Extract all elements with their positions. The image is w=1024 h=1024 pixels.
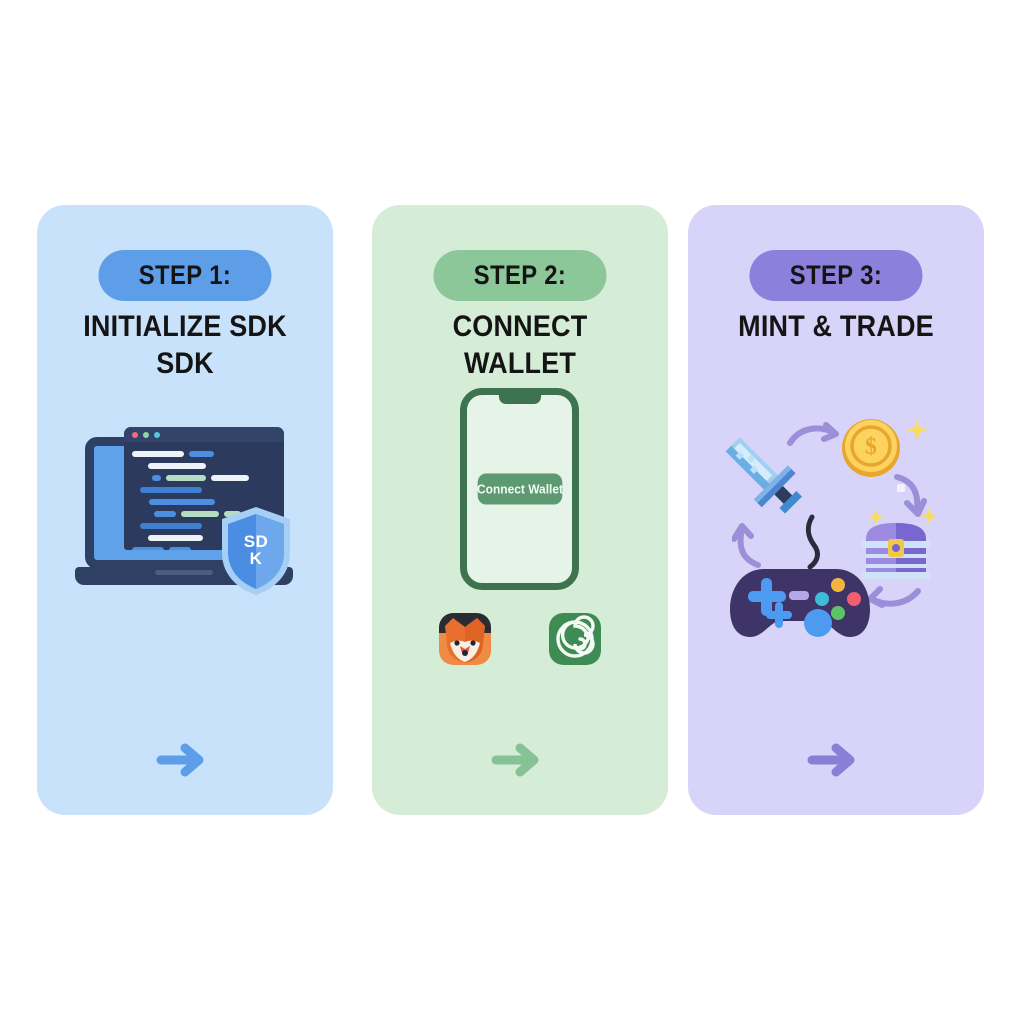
- window-close-dot-icon: [132, 432, 138, 438]
- card-title-line: SDK: [61, 345, 309, 382]
- code-token: [181, 511, 219, 517]
- sdk-shield-icon: SD K: [218, 505, 294, 597]
- code-editor-titlebar: [124, 427, 284, 442]
- step-badge-1: STEP 1:: [98, 250, 271, 301]
- next-arrow-3[interactable]: [688, 737, 984, 783]
- code-token: [211, 475, 249, 481]
- step-badge-label-2: STEP 2:: [474, 260, 566, 291]
- code-token: [132, 547, 164, 550]
- arrow-right-icon[interactable]: [490, 737, 550, 783]
- game-controller-icon: [726, 513, 874, 641]
- game-assets-illustration: $: [708, 413, 966, 643]
- code-token: [148, 535, 203, 541]
- code-token: [152, 475, 161, 481]
- arrow-right-icon[interactable]: [155, 737, 215, 783]
- card-title-2: CONNECT WALLET: [396, 308, 644, 382]
- card-title-line: CONNECT WALLET: [396, 308, 644, 382]
- sparkle-icon: [896, 483, 906, 493]
- svg-text:$: $: [865, 434, 877, 460]
- code-token: [169, 547, 191, 550]
- window-maximize-dot-icon: [154, 432, 160, 438]
- shield-label: SD K: [218, 533, 294, 567]
- smartphone-illustration: Connect Wallet: [460, 388, 579, 590]
- step-badge-3: STEP 3:: [749, 250, 922, 301]
- arrow-right-icon[interactable]: [806, 737, 866, 783]
- shield-label-line: SD: [218, 533, 294, 550]
- step-badge-label-3: STEP 3:: [790, 260, 882, 291]
- phone-notch-icon: [499, 395, 541, 404]
- card-title-3: MINT & TRADE: [712, 308, 960, 345]
- card-title-1: INITIALIZE SDK SDK: [61, 308, 309, 382]
- step-card-1[interactable]: STEP 1: INITIALIZE SDK SDK: [37, 205, 333, 815]
- infographic-stage: STEP 1: INITIALIZE SDK SDK: [0, 0, 1024, 1024]
- laptop-illustration: SD K: [75, 427, 297, 599]
- code-token: [149, 499, 215, 505]
- code-token: [140, 523, 202, 529]
- curved-arrow-icon: [866, 585, 922, 615]
- window-minimize-dot-icon: [143, 432, 149, 438]
- metamask-fox-icon[interactable]: [439, 613, 491, 665]
- shield-label-line: K: [218, 550, 294, 567]
- step-badge-label-1: STEP 1:: [139, 260, 231, 291]
- step-card-2[interactable]: STEP 2: CONNECT WALLET Connect Wallet: [372, 205, 668, 815]
- code-token: [154, 511, 176, 517]
- card-title-line: MINT & TRADE: [712, 308, 960, 345]
- step-card-3[interactable]: STEP 3: MINT & TRADE: [688, 205, 984, 815]
- card-title-line: INITIALIZE SDK: [61, 308, 309, 345]
- code-line: [132, 487, 276, 493]
- pixel-sword-icon: [716, 429, 806, 519]
- wallet-icon-row: [372, 613, 668, 665]
- connect-wallet-button[interactable]: Connect Wallet: [477, 474, 562, 505]
- next-arrow-2[interactable]: [372, 737, 668, 783]
- sparkle-icon: [906, 419, 928, 441]
- phantom-spiral-icon[interactable]: [549, 613, 601, 665]
- code-token: [140, 487, 202, 493]
- code-token: [189, 451, 214, 457]
- next-arrow-1[interactable]: [37, 737, 333, 783]
- code-token: [132, 451, 184, 457]
- code-line: [132, 451, 276, 457]
- step-badge-2: STEP 2:: [433, 250, 606, 301]
- gold-coin-icon: $: [840, 417, 902, 479]
- code-token: [166, 475, 206, 481]
- code-token: [148, 463, 206, 469]
- code-line: [132, 475, 276, 481]
- code-line: [132, 463, 276, 469]
